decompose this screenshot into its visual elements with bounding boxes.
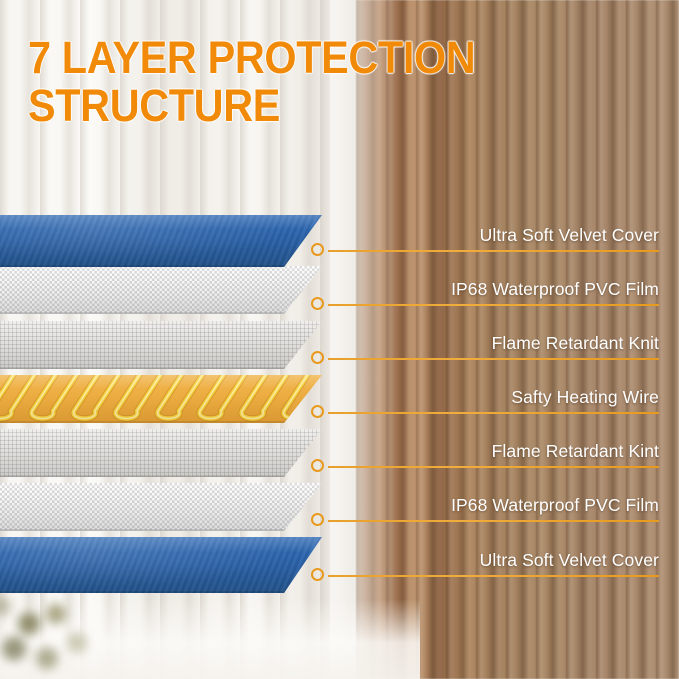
layer-sheen bbox=[0, 537, 322, 593]
layer-4-heating-wire bbox=[0, 375, 322, 423]
leader-line bbox=[328, 250, 659, 252]
leader-dot-icon bbox=[311, 297, 324, 310]
layer-bottom-edge bbox=[0, 591, 322, 593]
layer-label-7: Ultra Soft Velvet Cover bbox=[480, 550, 659, 571]
layer-bottom-edge bbox=[0, 312, 322, 314]
layer-7-velvet bbox=[0, 537, 322, 593]
layer-label-3: Flame Retardant Knit bbox=[492, 333, 659, 354]
leader-dot-icon bbox=[311, 243, 324, 256]
leader-line bbox=[328, 466, 659, 468]
layer-bottom-edge bbox=[0, 367, 322, 369]
leader-dot-icon bbox=[311, 405, 324, 418]
layer-sheen bbox=[0, 375, 322, 423]
layer-label-2: IP68 Waterproof PVC Film bbox=[451, 279, 659, 300]
layer-sheen bbox=[0, 483, 322, 531]
leader-dot-icon bbox=[311, 459, 324, 472]
layer-6-pvc-film bbox=[0, 483, 322, 531]
layer-2-pvc-film bbox=[0, 266, 322, 314]
infographic-canvas: 7 LAYER PROTECTION STRUCTURE Ultra Soft … bbox=[0, 0, 679, 679]
leader-dot-icon bbox=[311, 513, 324, 526]
layer-bottom-edge bbox=[0, 529, 322, 531]
leader-line bbox=[328, 520, 659, 522]
layer-label-4: Safty Heating Wire bbox=[511, 387, 659, 408]
leader-line bbox=[328, 304, 659, 306]
layer-3-knit bbox=[0, 321, 322, 369]
layer-bottom-edge bbox=[0, 421, 322, 423]
layer-label-6: IP68 Waterproof PVC Film bbox=[451, 495, 659, 516]
page-title: 7 LAYER PROTECTION STRUCTURE bbox=[28, 34, 598, 130]
leader-dot-icon bbox=[311, 568, 324, 581]
layer-1-velvet bbox=[0, 215, 322, 267]
layer-sheen bbox=[0, 215, 322, 267]
leader-dot-icon bbox=[311, 351, 324, 364]
layer-sheen bbox=[0, 266, 322, 314]
layer-label-1: Ultra Soft Velvet Cover bbox=[480, 225, 659, 246]
layer-5-knit bbox=[0, 429, 322, 477]
layer-sheen bbox=[0, 429, 322, 477]
leader-line bbox=[328, 412, 659, 414]
background-plant-blur bbox=[0, 589, 140, 679]
layer-sheen bbox=[0, 321, 322, 369]
leader-line bbox=[328, 358, 659, 360]
layer-bottom-edge bbox=[0, 265, 322, 267]
layer-bottom-edge bbox=[0, 475, 322, 477]
layer-label-5: Flame Retardant Kint bbox=[492, 441, 659, 462]
leader-line bbox=[328, 575, 659, 577]
